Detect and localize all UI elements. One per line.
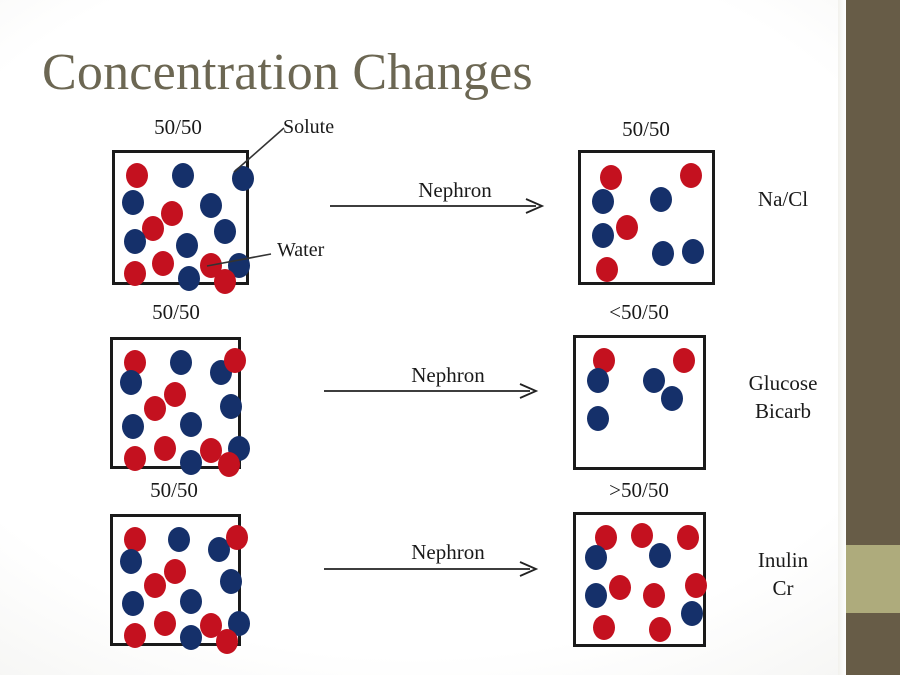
slide-canvas: Concentration Changes 50/50 50/50 Nephro… bbox=[0, 0, 900, 675]
solute-particle bbox=[631, 523, 653, 548]
solute-particle bbox=[680, 163, 702, 188]
water-particle bbox=[214, 219, 236, 244]
ratio-label-left-row2: 50/50 bbox=[152, 300, 200, 325]
water-particle bbox=[592, 223, 614, 248]
ratio-label-left-row1: 50/50 bbox=[154, 115, 202, 140]
solute-particle bbox=[144, 396, 166, 421]
concentration-box-right-row2 bbox=[573, 335, 706, 470]
water-particle bbox=[652, 241, 674, 266]
substance-label-row1: Na/Cl bbox=[758, 185, 808, 213]
water-particle bbox=[643, 368, 665, 393]
water-particle bbox=[168, 527, 190, 552]
water-particle bbox=[220, 569, 242, 594]
water-particle bbox=[172, 163, 194, 188]
water-particle bbox=[585, 545, 607, 570]
solute-particle bbox=[596, 257, 618, 282]
water-particle bbox=[650, 187, 672, 212]
solute-particle bbox=[609, 575, 631, 600]
nephron-arrow-row3 bbox=[322, 555, 544, 588]
water-particle bbox=[200, 193, 222, 218]
page-title: Concentration Changes bbox=[42, 46, 533, 101]
accent-bar-middle bbox=[846, 545, 900, 613]
ratio-label-right-row2: <50/50 bbox=[609, 300, 669, 325]
concentration-box-right-row3 bbox=[573, 512, 706, 647]
water-particle bbox=[649, 543, 671, 568]
concentration-box-left-row3 bbox=[110, 514, 241, 646]
water-particle bbox=[120, 370, 142, 395]
solute-particle bbox=[216, 629, 238, 654]
water-particle bbox=[681, 601, 703, 626]
water-particle bbox=[682, 239, 704, 264]
solute-particle bbox=[643, 583, 665, 608]
solute-particle bbox=[218, 452, 240, 477]
water-particle bbox=[178, 266, 200, 291]
water-particle bbox=[180, 625, 202, 650]
concentration-box-right-row1 bbox=[578, 150, 715, 285]
substance-label-row2: Glucose Bicarb bbox=[749, 369, 818, 425]
water-particle bbox=[122, 414, 144, 439]
slide-edge-gradient bbox=[838, 0, 846, 675]
solute-particle bbox=[124, 261, 146, 286]
water-particle bbox=[220, 394, 242, 419]
solute-particle bbox=[593, 615, 615, 640]
water-particle bbox=[122, 190, 144, 215]
callout-leader-solute bbox=[228, 122, 290, 183]
substance-label-row3-line1: Inulin bbox=[758, 546, 808, 574]
nephron-arrow-row1 bbox=[328, 192, 550, 225]
water-particle bbox=[587, 368, 609, 393]
solute-particle bbox=[161, 201, 183, 226]
water-particle bbox=[592, 189, 614, 214]
solute-particle bbox=[164, 382, 186, 407]
nephron-arrow-row2 bbox=[322, 377, 544, 410]
solute-particle bbox=[685, 573, 707, 598]
water-particle bbox=[180, 450, 202, 475]
water-particle bbox=[587, 406, 609, 431]
accent-bar-bottom bbox=[846, 613, 900, 675]
water-particle bbox=[120, 549, 142, 574]
ratio-label-right-row1: 50/50 bbox=[622, 117, 670, 142]
water-particle bbox=[180, 589, 202, 614]
callout-label-water: Water bbox=[277, 239, 324, 262]
water-particle bbox=[180, 412, 202, 437]
solute-particle bbox=[224, 348, 246, 373]
solute-particle bbox=[124, 623, 146, 648]
water-particle bbox=[122, 591, 144, 616]
solute-particle bbox=[124, 527, 146, 552]
solute-particle bbox=[226, 525, 248, 550]
ratio-label-right-row3: >50/50 bbox=[609, 478, 669, 503]
water-particle bbox=[124, 229, 146, 254]
water-particle bbox=[170, 350, 192, 375]
accent-bar-top bbox=[846, 0, 900, 545]
substance-label-row2-line1: Glucose bbox=[749, 369, 818, 397]
substance-label-row3-line2: Cr bbox=[758, 574, 808, 602]
solute-particle bbox=[124, 446, 146, 471]
water-particle bbox=[585, 583, 607, 608]
callout-leader-water bbox=[203, 248, 275, 277]
callout-label-solute: Solute bbox=[283, 116, 334, 139]
solute-particle bbox=[154, 436, 176, 461]
water-particle bbox=[176, 233, 198, 258]
solute-particle bbox=[152, 251, 174, 276]
ratio-label-left-row3: 50/50 bbox=[150, 478, 198, 503]
solute-particle bbox=[154, 611, 176, 636]
solute-particle bbox=[126, 163, 148, 188]
solute-particle bbox=[673, 348, 695, 373]
water-particle bbox=[661, 386, 683, 411]
solute-particle bbox=[600, 165, 622, 190]
substance-label-row3: Inulin Cr bbox=[758, 546, 808, 602]
solute-particle bbox=[616, 215, 638, 240]
solute-particle bbox=[144, 573, 166, 598]
solute-particle bbox=[164, 559, 186, 584]
solute-particle bbox=[649, 617, 671, 642]
concentration-box-left-row2 bbox=[110, 337, 241, 469]
substance-label-row2-line2: Bicarb bbox=[749, 397, 818, 425]
solute-particle bbox=[677, 525, 699, 550]
